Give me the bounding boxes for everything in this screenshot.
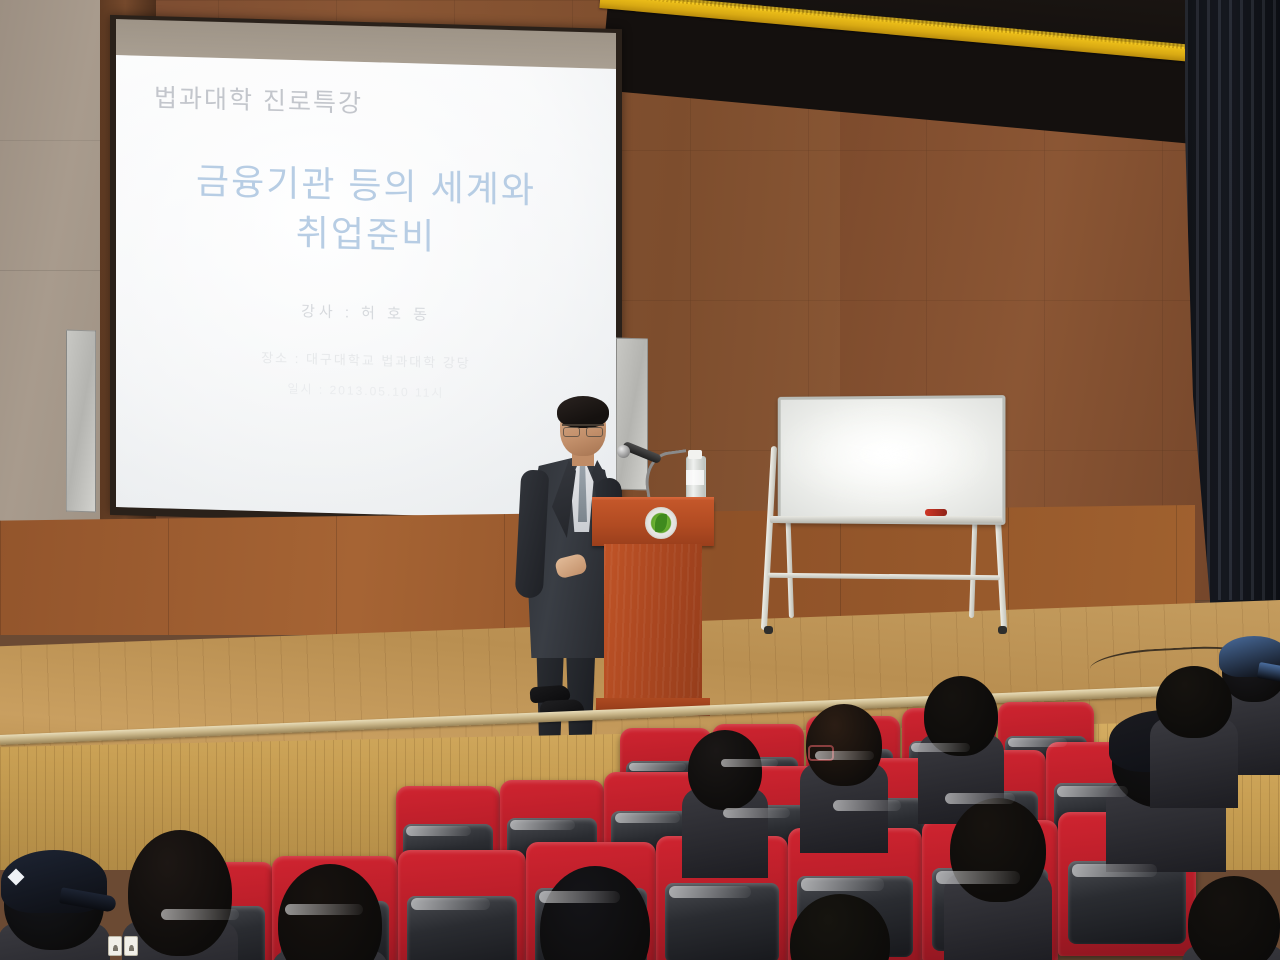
audience-area — [0, 630, 1280, 960]
slide-title-line-1: 금융기관 등의 세계와 — [196, 160, 536, 210]
audience-member-head — [128, 830, 232, 956]
water-bottle-cap — [688, 450, 702, 459]
green-leaf-emblem-icon — [645, 507, 677, 539]
audience-member-head — [688, 730, 762, 810]
red-marker — [925, 509, 947, 516]
slide-title: 금융기관 등의 세계와 취업준비 — [116, 155, 616, 266]
wall-outlet — [108, 936, 122, 956]
microphone-icon — [617, 445, 630, 458]
wall-speaker-right — [616, 338, 648, 491]
water-bottle-label — [686, 470, 704, 485]
whiteboard-marker-tray — [770, 516, 1002, 523]
auditorium-photo: 법과대학 진로특강 금융기관 등의 세계와 취업준비 강사 : 허 호 동 장소… — [0, 0, 1280, 960]
auditorium-seat — [398, 850, 526, 960]
audience-member-head — [950, 798, 1046, 902]
wall-speaker-left — [66, 329, 96, 512]
audience-member-head — [1188, 876, 1280, 960]
glasses-icon — [562, 424, 604, 435]
slide-header: 법과대학 진로특강 — [154, 78, 363, 120]
projection-screen: 법과대학 진로특강 금융기관 등의 세계와 취업준비 강사 : 허 호 동 장소… — [116, 55, 616, 521]
whiteboard-glare — [784, 404, 988, 504]
audience-member-head — [1156, 666, 1232, 738]
projector-glow — [116, 55, 616, 521]
wall-outlet — [124, 936, 138, 956]
